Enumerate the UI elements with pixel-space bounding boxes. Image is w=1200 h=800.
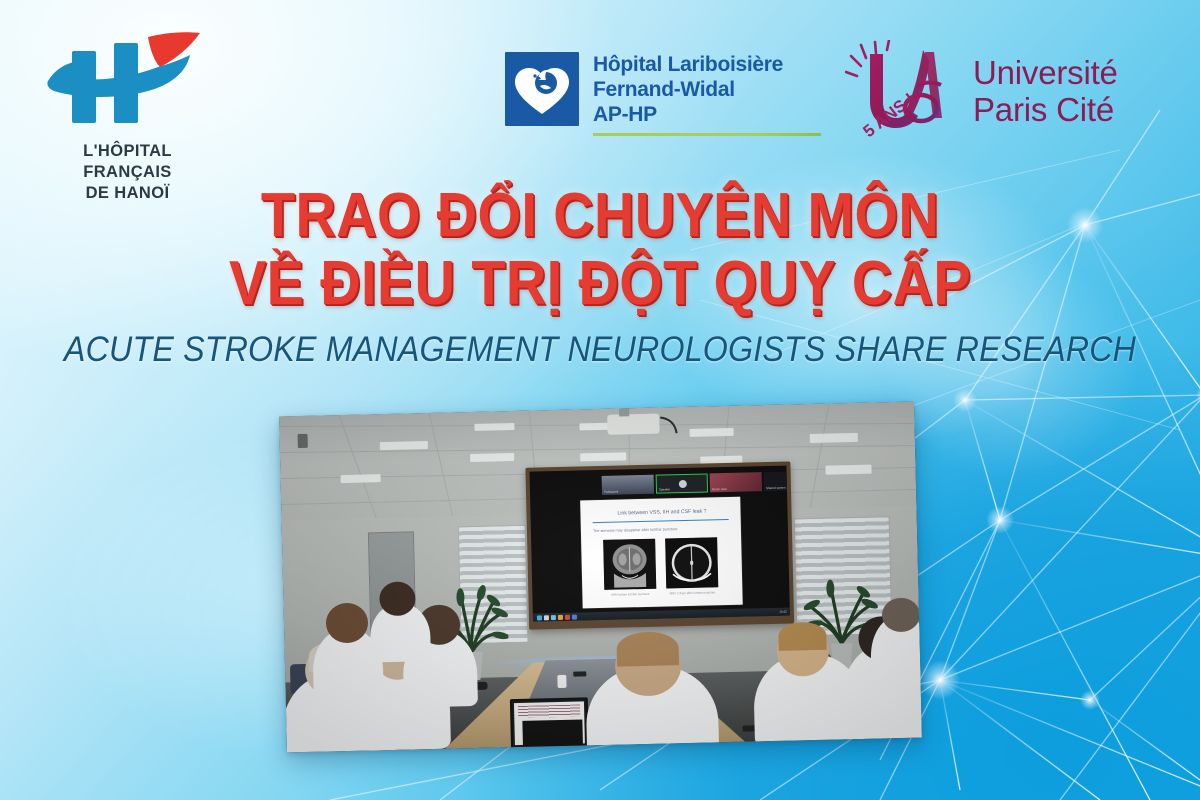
attendee-hair bbox=[778, 622, 827, 651]
video-tile: Shared screen bbox=[764, 471, 790, 491]
aphp-name: Hôpital Lariboisière Fernand-Widal AP-HP bbox=[593, 53, 821, 127]
video-tile: Room view bbox=[710, 472, 762, 492]
video-call-tiles: Participant Speaker Room view Shared scr… bbox=[602, 471, 790, 495]
aphp-heart-icon bbox=[505, 52, 579, 126]
photo-scene: Participant Speaker Room view Shared scr… bbox=[279, 402, 922, 753]
video-tile-active: Speaker bbox=[656, 473, 708, 493]
video-tile-label: Speaker bbox=[659, 487, 670, 491]
taskbar-start-icon bbox=[537, 615, 542, 620]
taskbar-app-icon bbox=[565, 614, 570, 619]
video-tile-label: Participant bbox=[604, 490, 618, 494]
aphp-green-rule bbox=[593, 133, 821, 136]
presentation-slide: Link between VSS, IIH and CSF leak ? The… bbox=[580, 497, 743, 609]
logo-hopital-francais-hanoi: L'HÔPITAL FRANÇAIS DE HANOÏ bbox=[40, 25, 215, 204]
event-photo: Participant Speaker Room view Shared scr… bbox=[279, 402, 922, 753]
headline-line-2: VỀ ĐIỀU TRỊ ĐỘT QUỴ CẤP bbox=[60, 254, 1140, 314]
laptop-text-lines bbox=[518, 705, 580, 718]
windows-taskbar: 10:42 bbox=[533, 608, 790, 622]
taskbar-app-icon bbox=[572, 614, 577, 619]
slide-caption-left: MRV before lumbar puncture bbox=[604, 592, 656, 597]
event-banner: L'HÔPITAL FRANÇAIS DE HANOÏ Hôpital Lari… bbox=[0, 0, 1200, 800]
slide-title: Link between VSS, IIH and CSF leak ? bbox=[593, 508, 730, 517]
slide-caption-right: MRV 2 days after lumbar puncture bbox=[666, 590, 718, 595]
projection-screen-frame: Participant Speaker Room view Shared scr… bbox=[525, 461, 794, 629]
headline-line-1: TRAO ĐỔI CHUYÊN MÔN bbox=[60, 186, 1140, 246]
upc-name: Université Paris Cité bbox=[973, 55, 1118, 129]
laptop-scan-image bbox=[522, 719, 583, 746]
video-tile: Participant bbox=[602, 475, 654, 495]
taskbar-clock: 10:42 bbox=[779, 610, 787, 614]
laptop-screen bbox=[514, 701, 585, 745]
brain-scan-image-right bbox=[665, 537, 718, 588]
taskbar-search-icon bbox=[544, 615, 549, 620]
brain-scan-image-left bbox=[603, 539, 656, 590]
attendee-hair bbox=[616, 631, 679, 666]
logo-row: L'HÔPITAL FRANÇAIS DE HANOÏ Hôpital Lari… bbox=[0, 0, 1200, 200]
logo-universite-paris-cite: 5 ANS ! Université Paris Cité bbox=[845, 40, 1118, 144]
logo-aphp-lariboisiere: Hôpital Lariboisière Fernand-Widal AP-HP bbox=[505, 52, 821, 136]
taskbar-explorer-icon bbox=[551, 615, 556, 620]
video-tile-label: Room view bbox=[712, 487, 727, 491]
slide-title-rule bbox=[593, 519, 729, 523]
open-laptop bbox=[510, 697, 589, 749]
video-tile-label: Shared screen bbox=[766, 486, 786, 490]
slide-subtitle: The stenosis may disappear after lumbar … bbox=[593, 527, 678, 533]
projection-screen: Participant Speaker Room view Shared scr… bbox=[529, 466, 789, 622]
upc-monogram-icon: 5 ANS ! bbox=[845, 40, 957, 144]
hfh-mark-icon bbox=[40, 25, 215, 137]
taskbar-app-icon bbox=[558, 614, 563, 619]
subtitle: ACUTE STROKE MANAGEMENT NEUROLOGISTS SHA… bbox=[48, 330, 1152, 370]
title-block: TRAO ĐỔI CHUYÊN MÔN VỀ ĐIỀU TRỊ ĐỘT QUỴ … bbox=[0, 186, 1200, 370]
